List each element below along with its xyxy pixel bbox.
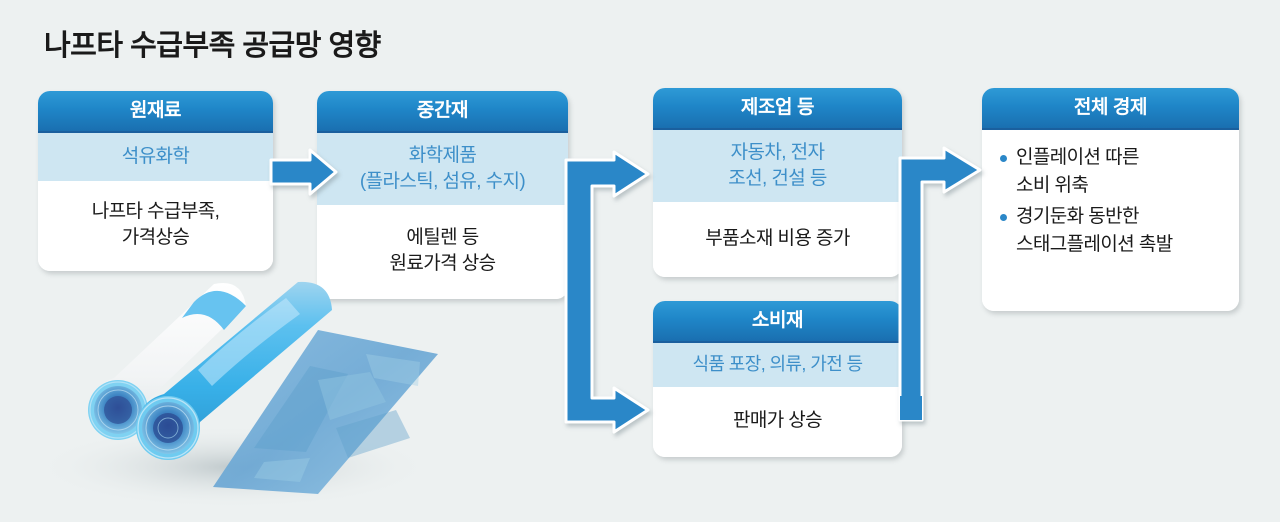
card-intermediate-header: 중간재	[317, 91, 568, 133]
bullet-text: 경기둔화 동반한 스태그플레이션 촉발	[1016, 203, 1173, 258]
split-right-arrow-icon	[566, 152, 648, 432]
list-item: 인플레이션 따른 소비 위축	[1000, 144, 1227, 199]
card-raw-material-body: 나프타 수급부족, 가격상승	[38, 181, 273, 271]
bullet-dot-icon	[1000, 155, 1007, 162]
card-manufacturing-subtitle: 자동차, 전자 조선, 건설 등	[653, 130, 902, 202]
card-raw-material-body-line2: 가격상승	[92, 225, 220, 251]
bullet-2-line2: 스태그플레이션 촉발	[1016, 234, 1173, 255]
infographic-canvas: 나프타 수급부족 공급망 영향 원재료 석유화학 나프타 수급부족, 가격상승 …	[0, 0, 1280, 522]
card-intermediate-subtitle: 화학제품 (플라스틱, 섬유, 수지)	[317, 133, 568, 205]
merge-right-arrow-icon	[900, 148, 980, 420]
bullet-1-line2: 소비 위축	[1016, 175, 1088, 196]
card-intermediate-subtitle-line2: (플라스틱, 섬유, 수지)	[360, 169, 525, 194]
card-whole-economy: 전체 경제 인플레이션 따른 소비 위축 경기둔화 동반한 스태그플레이션 촉발	[982, 88, 1239, 311]
card-raw-material-header: 원재료	[38, 91, 273, 133]
card-manufacturing: 제조업 등 자동차, 전자 조선, 건설 등 부품소재 비용 증가	[653, 88, 902, 277]
card-intermediate-body-line1: 에틸렌 등	[390, 225, 496, 251]
card-raw-material-subtitle: 석유화학	[38, 133, 273, 181]
card-intermediate-subtitle-line1: 화학제품	[360, 143, 525, 168]
card-raw-material: 원재료 석유화학 나프타 수급부족, 가격상승	[38, 91, 273, 271]
bullet-dot-icon	[1000, 214, 1007, 221]
card-manufacturing-subtitle-line1: 자동차, 전자	[728, 140, 826, 165]
card-manufacturing-subtitle-line2: 조선, 건설 등	[728, 166, 826, 191]
bullet-text: 인플레이션 따른 소비 위축	[1016, 144, 1139, 199]
card-manufacturing-header: 제조업 등	[653, 88, 902, 130]
card-consumer-goods-header: 소비재	[653, 301, 902, 343]
card-consumer-goods-body: 판매가 상승	[653, 387, 902, 457]
list-item: 경기둔화 동반한 스태그플레이션 촉발	[1000, 203, 1227, 258]
card-raw-material-body-line1: 나프타 수급부족,	[92, 199, 220, 225]
card-consumer-goods: 소비재 식품 포장, 의류, 가전 등 판매가 상승	[653, 301, 902, 457]
card-whole-economy-body: 인플레이션 따른 소비 위축 경기둔화 동반한 스태그플레이션 촉발	[982, 130, 1239, 311]
bullet-2-line1: 경기둔화 동반한	[1016, 206, 1139, 227]
plastic-film-rolls-image	[18, 262, 478, 522]
page-title: 나프타 수급부족 공급망 영향	[44, 22, 381, 64]
bullet-1-line1: 인플레이션 따른	[1016, 147, 1139, 168]
card-consumer-goods-subtitle: 식품 포장, 의류, 가전 등	[653, 343, 902, 387]
card-manufacturing-body: 부품소재 비용 증가	[653, 202, 902, 277]
card-whole-economy-header: 전체 경제	[982, 88, 1239, 130]
